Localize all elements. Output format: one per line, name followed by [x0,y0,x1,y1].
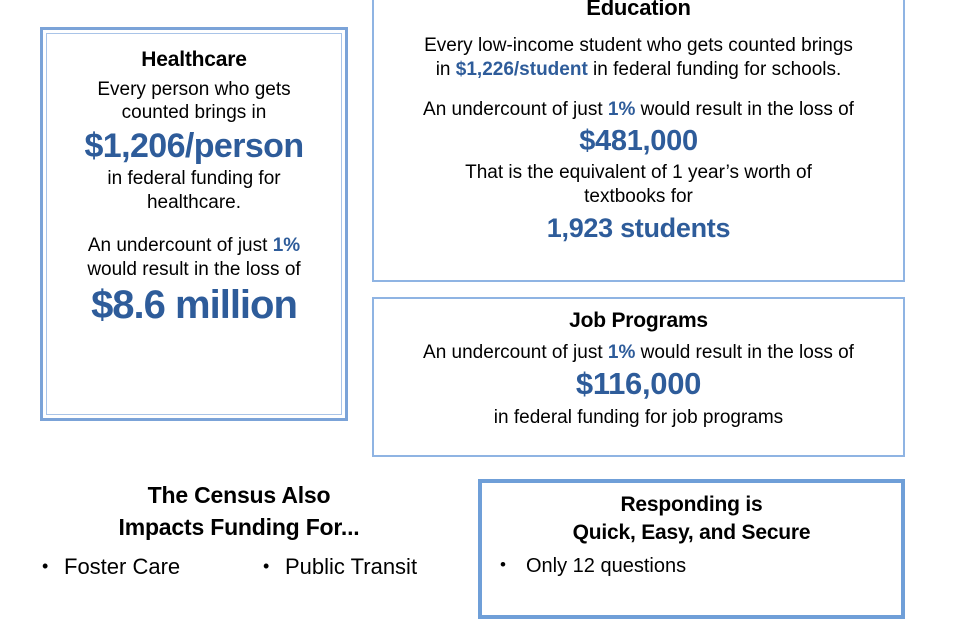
healthcare-funding-line-2: healthcare. [57,191,331,214]
healthcare-undercount-suffix: would result in the loss of [87,259,300,280]
also-impacts-section: The Census Also Impacts Funding For... •… [14,480,464,582]
education-intro-part-2: in [436,59,456,80]
also-impacts-heading-line-1: The Census Also [14,480,464,512]
education-undercount-prefix: An undercount of just [423,99,608,120]
also-impacts-item-label: Public Transit [285,552,417,582]
education-loss-amount: $481,000 [382,124,895,159]
healthcare-undercount-text: An undercount of just 1% would result in… [57,234,331,282]
bullet-icon: • [42,557,64,575]
bullet-icon: • [500,556,526,573]
responding-item-label: Only 12 questions [526,553,686,580]
responding-list: • Only 12 questions [488,553,895,580]
list-item: • Public Transit [263,552,464,582]
job-programs-title: Job Programs [382,309,895,333]
job-programs-footer-text: in federal funding for job programs [382,406,895,430]
also-impacts-item-label: Foster Care [64,552,180,582]
also-impacts-column-right: • Public Transit [253,552,464,582]
job-programs-panel: Job Programs An undercount of just 1% wo… [372,297,905,457]
list-item: • Only 12 questions [500,553,895,580]
also-impacts-list: • Foster Care • Public Transit [14,552,464,582]
job-programs-loss-amount: $116,000 [382,366,895,402]
education-equivalent-line-2: textbooks for [584,186,693,207]
list-item: • Foster Care [42,552,253,582]
also-impacts-heading-line-2: Impacts Funding For... [14,512,464,544]
education-undercount-percent: 1% [608,99,635,120]
job-programs-undercount-text: An undercount of just 1% would result in… [382,341,895,365]
healthcare-loss-amount: $8.6 million [57,283,331,328]
job-programs-undercount-percent: 1% [608,342,635,363]
healthcare-panel: Healthcare Every person who gets counted… [40,27,348,421]
education-title: Education [382,0,895,20]
education-per-student-amount: $1,226/student [456,59,588,80]
education-equivalent-line-1: That is the equivalent of 1 year’s worth… [465,162,812,183]
healthcare-undercount-percent: 1% [273,235,300,256]
job-programs-undercount-prefix: An undercount of just [423,342,608,363]
education-undercount-suffix: would result in the loss of [635,99,854,120]
healthcare-amount: $1,206/person [57,126,331,166]
healthcare-funding-line-1: in federal funding for [57,167,331,190]
education-panel: Education Every low-income student who g… [372,0,905,282]
responding-panel: Responding is Quick, Easy, and Secure • … [478,479,905,619]
also-impacts-column-left: • Foster Care [42,552,253,582]
education-intro-part-3: in federal funding for schools. [588,59,842,80]
job-programs-undercount-suffix: would result in the loss of [635,342,854,363]
education-students-count: 1,923 students [382,213,895,244]
education-intro-part-1: Every low-income student who gets counte… [424,35,853,56]
education-equivalent-text: That is the equivalent of 1 year’s worth… [382,161,895,209]
healthcare-undercount-prefix: An undercount of just [88,235,273,256]
education-intro-text: Every low-income student who gets counte… [382,34,895,82]
healthcare-intro-line-2: counted brings in [57,101,331,124]
healthcare-title: Healthcare [57,48,331,72]
healthcare-intro-line-1: Every person who gets [57,78,331,101]
responding-heading-line-2: Quick, Easy, and Secure [488,519,895,547]
bullet-icon: • [263,557,285,575]
responding-heading-line-1: Responding is [488,491,895,519]
healthcare-panel-inner-border: Healthcare Every person who gets counted… [46,33,342,415]
education-undercount-text: An undercount of just 1% would result in… [382,98,895,122]
